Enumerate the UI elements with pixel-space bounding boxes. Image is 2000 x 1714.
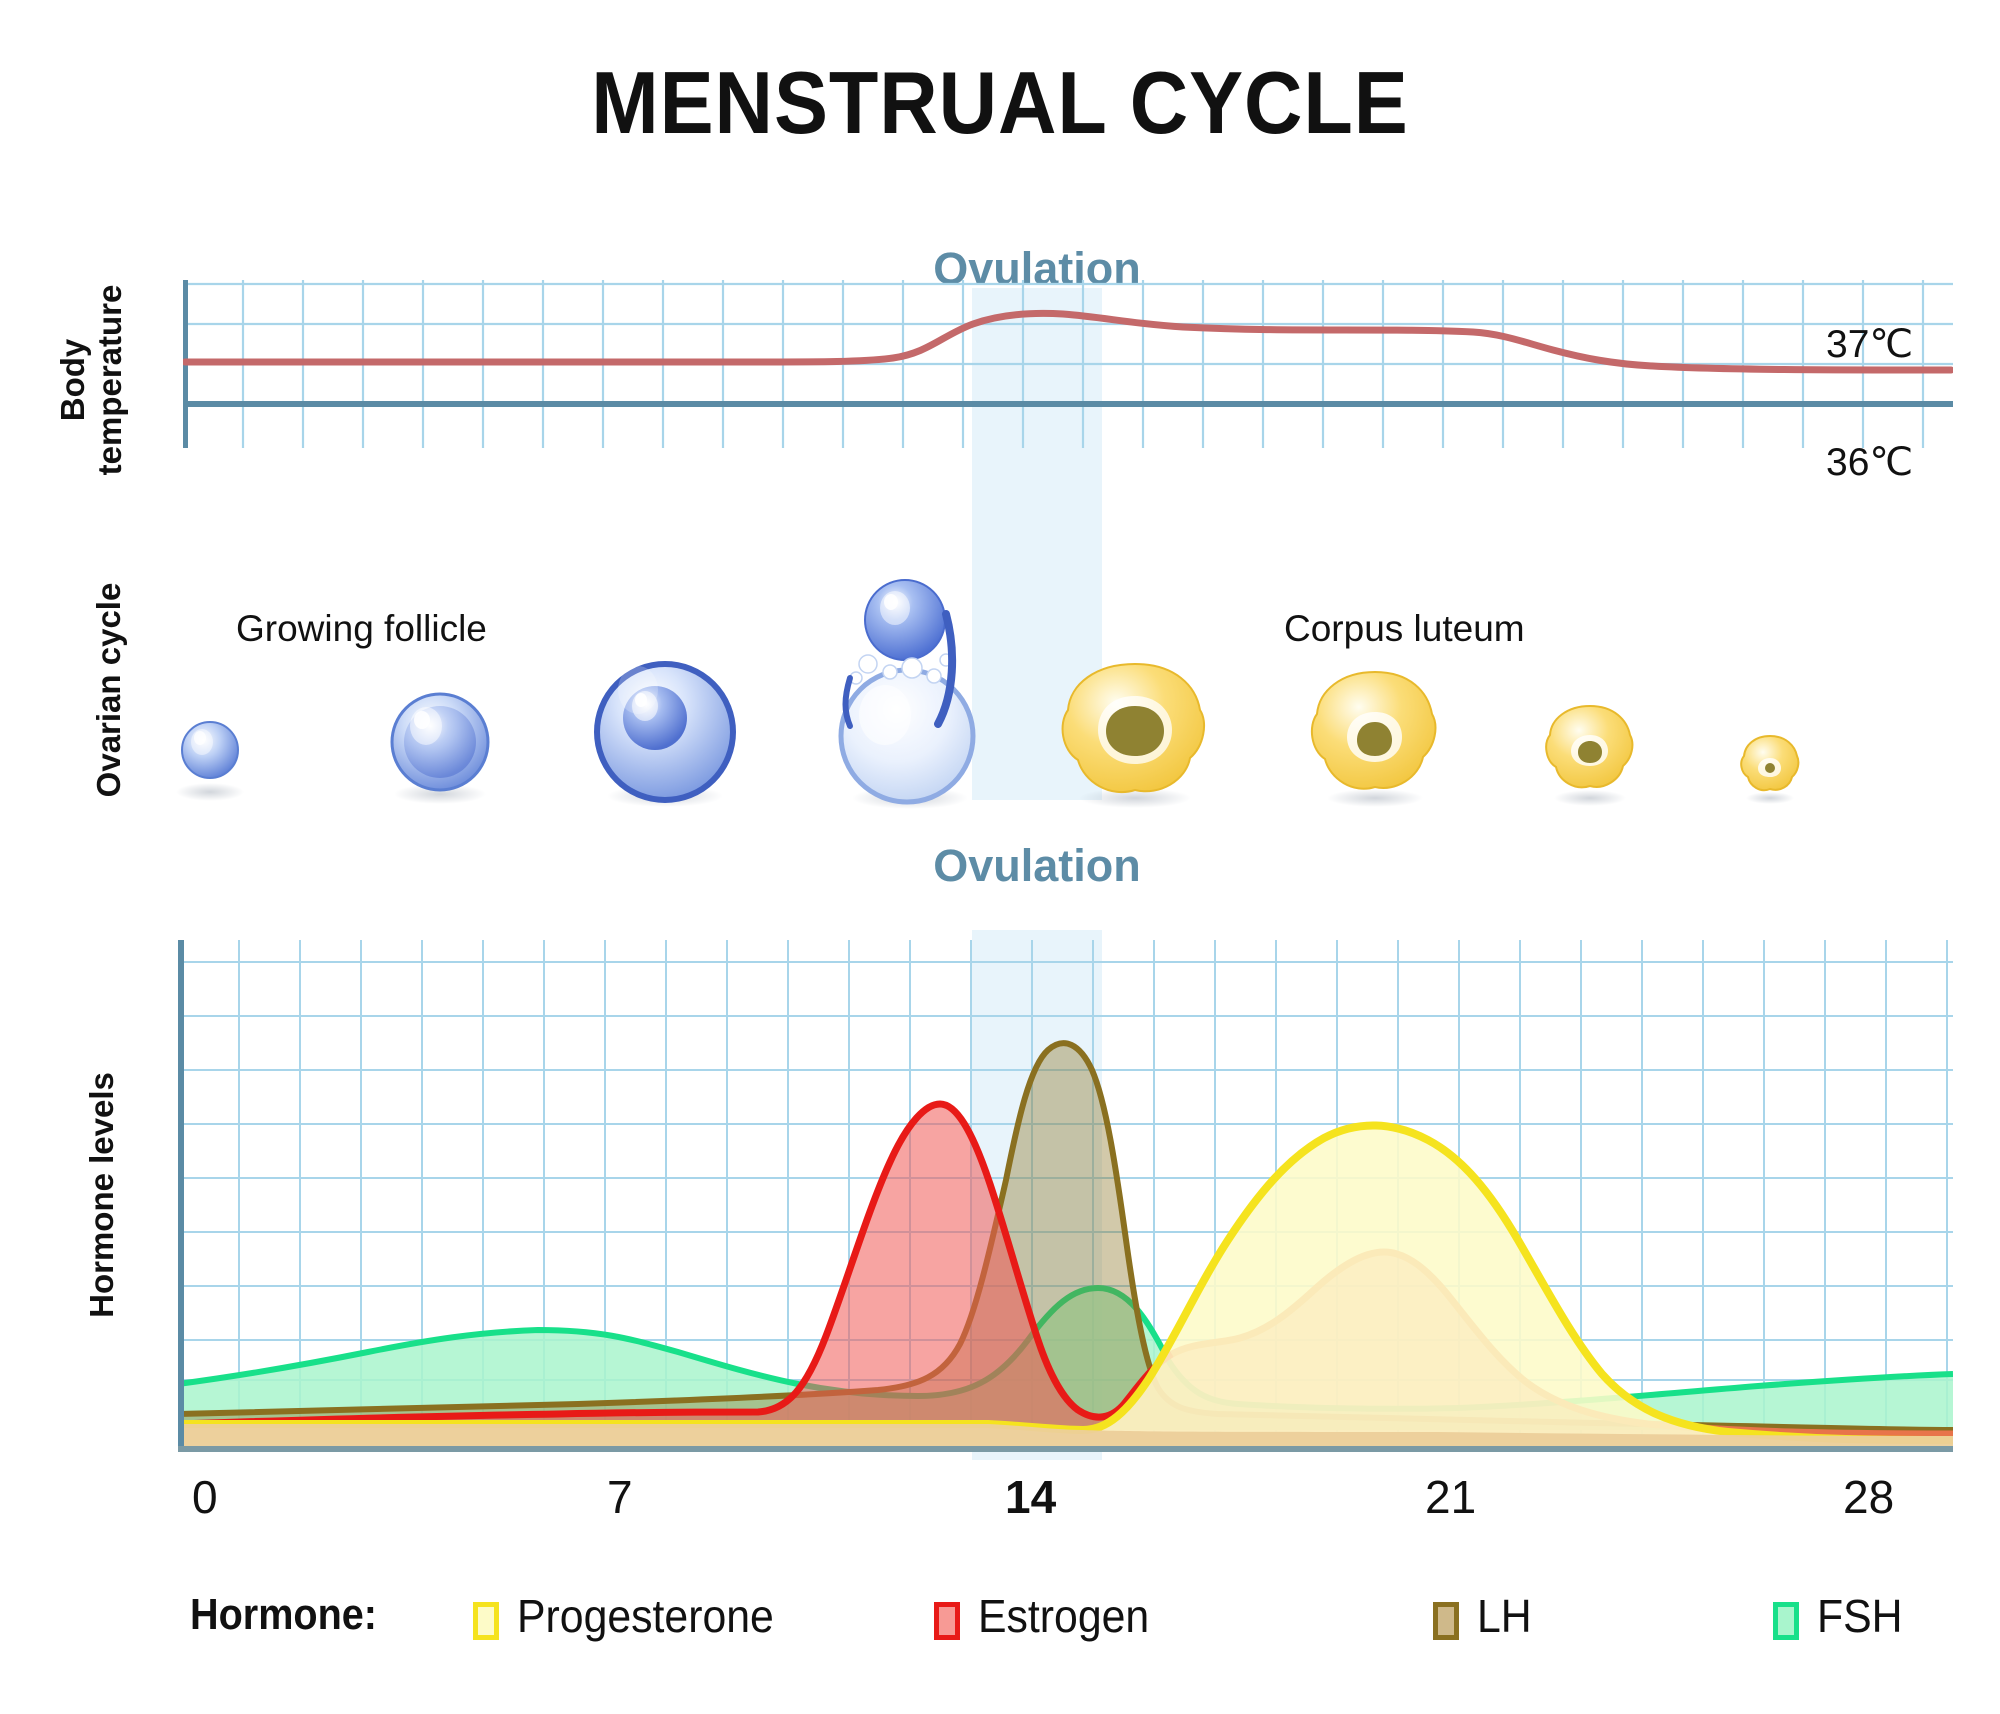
x-tick-21: 21 [1425, 1470, 1476, 1524]
legend-label-progesterone: Progesterone [517, 1589, 774, 1643]
temp-tick-37c: 37℃ [1826, 322, 1913, 367]
legend-swatch-fsh [1773, 1602, 1799, 1640]
body-temperature-chart [183, 280, 1953, 480]
hormone-levels-axis-label: Hormone levels [72, 1030, 132, 1360]
body-temperature-axis-label-line1: Body [54, 339, 91, 422]
body-temperature-curve [185, 313, 1951, 370]
corpus-luteum-stage-1 [1063, 664, 1205, 808]
temp-tick-36c: 36℃ [1826, 440, 1913, 485]
hormone-legend: Hormone: Progesterone Estrogen LH FSH [0, 1590, 2000, 1660]
page-title: MENSTRUAL CYCLE [80, 52, 1920, 154]
hormone-levels-plot [178, 940, 1953, 1452]
x-tick-0: 0 [192, 1470, 218, 1524]
x-tick-14: 14 [1005, 1470, 1056, 1524]
legend-label-fsh: FSH [1817, 1589, 1903, 1643]
ovarian-cycle-axis-label-text: Ovarian cycle [90, 583, 128, 798]
body-temperature-axis-label: Body temperature [60, 250, 124, 510]
legend-title: Hormone: [190, 1590, 377, 1640]
hormone-levels-axis-label-text: Hormone levels [83, 1072, 121, 1318]
corpus-luteum-stage-2 [1312, 672, 1436, 807]
x-tick-28: 28 [1843, 1470, 1894, 1524]
legend-swatch-estrogen [934, 1602, 960, 1640]
legend-label-lh: LH [1477, 1589, 1532, 1643]
body-temperature-axis-label-line2: temperature [91, 285, 128, 476]
temp-gridlines-h [183, 284, 1953, 404]
legend-swatch-lh [1433, 1602, 1459, 1640]
legend-swatch-progesterone [473, 1602, 499, 1640]
corpus-luteum-stage-4 [1741, 736, 1798, 804]
corpus-luteum-stage-3 [1546, 706, 1632, 806]
follicle-stage-3 [597, 664, 733, 807]
follicle-stage-2 [392, 694, 488, 804]
ovarian-cycle-illustrations [150, 560, 2000, 810]
body-temperature-plot [183, 280, 1953, 480]
hormone-levels-chart [178, 940, 1953, 1452]
ovulation-follicle-rupture [841, 580, 973, 809]
ovulation-label-bottom: Ovulation [887, 840, 1187, 892]
follicle-stage-1 [176, 722, 244, 801]
ovarian-cycle-axis-label: Ovarian cycle [78, 560, 140, 820]
legend-label-estrogen: Estrogen [978, 1589, 1149, 1643]
x-tick-7: 7 [607, 1470, 633, 1524]
